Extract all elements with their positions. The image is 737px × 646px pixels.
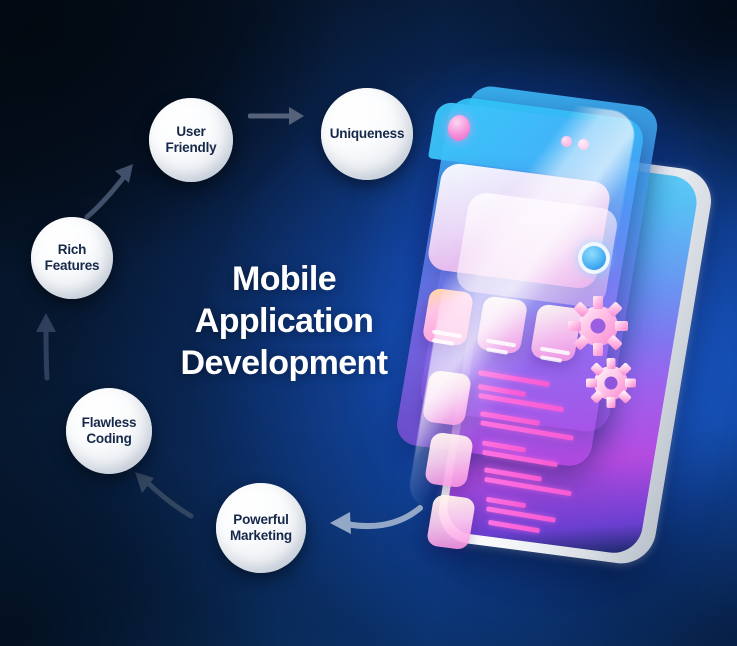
mobile-app-illustration (404, 60, 724, 580)
poster-canvas: Mobile Application Development User Frie… (0, 0, 737, 646)
feature-tile-2 (476, 295, 529, 354)
arrow-right-icon (248, 101, 310, 131)
arrow-up-icon (28, 310, 64, 382)
title-line-2: Application (150, 301, 418, 343)
node-label-line-1: Rich (45, 242, 100, 258)
side-card-2 (424, 432, 474, 489)
gear-icon (564, 292, 632, 360)
node-label-line-2: Friendly (166, 140, 217, 156)
side-card-1 (422, 370, 472, 427)
cycle-node-rich-features[interactable]: Rich Features (31, 217, 113, 299)
cycle-node-user-friendly[interactable]: User Friendly (149, 98, 233, 182)
status-dot-1 (561, 136, 572, 147)
node-label-line-2: Marketing (230, 528, 292, 544)
arrow-up-left-icon (127, 468, 197, 522)
cycle-node-uniqueness[interactable]: Uniqueness (321, 88, 413, 180)
node-label-line-2: Coding (82, 431, 137, 447)
gear-icon (582, 354, 640, 412)
side-card-3 (426, 494, 476, 551)
cycle-node-powerful-marketing[interactable]: Powerful Marketing (216, 483, 306, 573)
title-line-1: Mobile (150, 259, 418, 301)
node-label-line-1: Flawless (82, 415, 137, 431)
node-label-line-1: Powerful (230, 512, 292, 528)
page-title: Mobile Application Development (150, 259, 418, 384)
status-dot-2 (578, 139, 589, 150)
title-line-3: Development (150, 343, 418, 385)
cycle-node-flawless-coding[interactable]: Flawless Coding (66, 388, 152, 474)
node-label-line-2: Features (45, 258, 100, 274)
arrow-up-right-icon (82, 160, 142, 222)
node-label-line-1: User (166, 124, 217, 140)
feature-tile-1 (422, 287, 475, 346)
node-label-line-1: Uniqueness (330, 126, 405, 142)
